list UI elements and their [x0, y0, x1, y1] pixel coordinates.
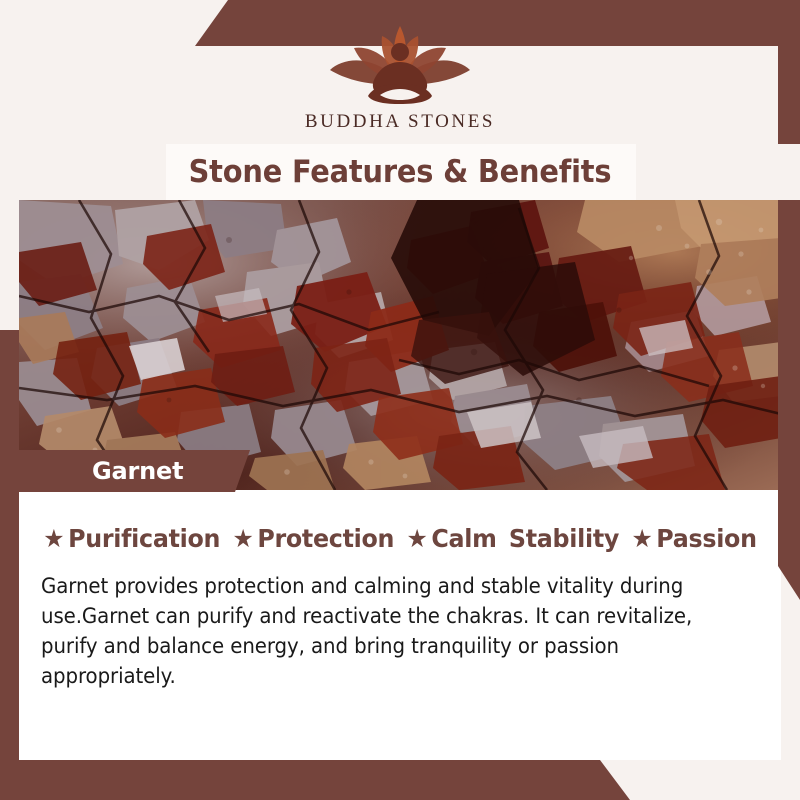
star-icon: ★ [407, 526, 428, 551]
stone-description: Garnet provides protection and calming a… [41, 572, 705, 692]
content-panel: ★ Purification ★ Protection ★ Calm ★ Sta… [19, 490, 781, 760]
benefits-list: ★ Purification ★ Protection ★ Calm ★ Sta… [38, 524, 762, 553]
stone-name-banner: Garnet [19, 450, 250, 492]
lotus-meditation-figure-icon [314, 22, 486, 108]
stone-name-label: Garnet [92, 457, 183, 485]
brand-logo: BUDDHA STONES [0, 22, 800, 146]
brand-name: BUDDHA STONES [305, 111, 495, 133]
benefit-label: Protection [257, 524, 394, 553]
benefit-label: Purification [68, 524, 220, 553]
garnet-photo [19, 200, 781, 490]
star-icon: ★ [631, 526, 652, 551]
benefit-item-calm: ★ Calm [407, 524, 497, 553]
benefit-item-protection: ★ Protection [233, 524, 395, 553]
star-icon: ★ [43, 526, 64, 551]
page-title: Stone Features & Benefits [28, 144, 772, 200]
benefit-item-passion: ★ Passion [631, 524, 756, 553]
stone-info-card: Garnet ★ Purification ★ Protection ★ Cal… [0, 0, 800, 800]
benefit-item-stability: ★ Stability [509, 524, 619, 553]
title-band: Stone Features & Benefits [0, 144, 800, 200]
benefit-item-purification: ★ Purification [43, 524, 220, 553]
frame-left-bar [0, 330, 19, 800]
benefit-label: Calm [431, 524, 496, 553]
benefit-label: Passion [656, 524, 756, 553]
garnet-photo-illustration [19, 200, 781, 490]
benefit-label: Stability [509, 524, 619, 553]
star-icon: ★ [233, 526, 254, 551]
